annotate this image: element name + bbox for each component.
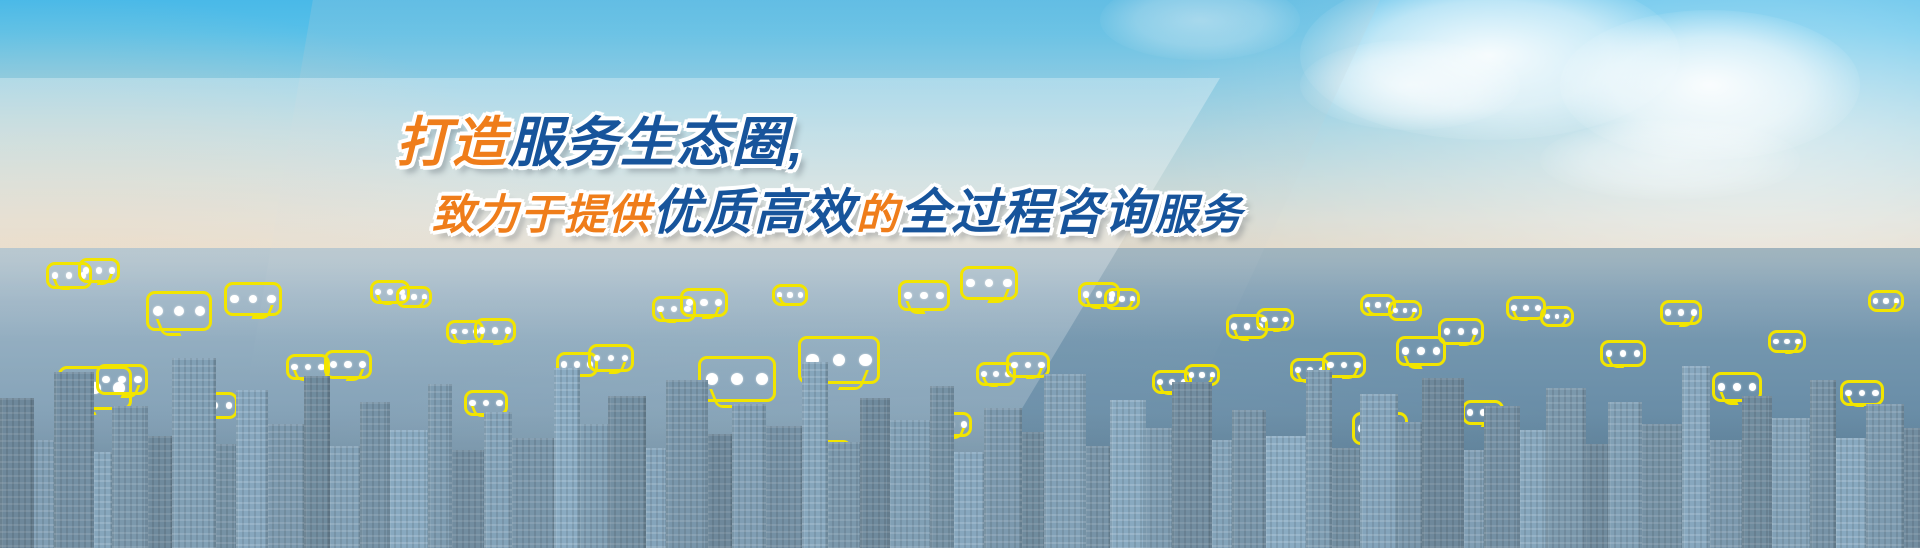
building <box>608 396 646 548</box>
building <box>644 448 668 548</box>
building <box>92 452 114 548</box>
building <box>1866 404 1904 548</box>
bubble-dot <box>981 371 987 377</box>
bubble-dot <box>859 354 872 367</box>
building <box>1210 440 1234 548</box>
bubble-dot <box>993 371 999 377</box>
building <box>1264 436 1308 548</box>
bubble-dot <box>1261 317 1266 322</box>
bubble-dot <box>344 361 351 368</box>
building <box>1306 370 1332 548</box>
building <box>112 406 148 548</box>
bubble-dot <box>1535 305 1541 311</box>
bubble-dot <box>249 295 258 304</box>
bubble-dot <box>622 355 629 362</box>
headline-segment-orange: 打造 <box>396 113 508 173</box>
building <box>1682 366 1710 548</box>
bubble-tail <box>1847 396 1864 407</box>
speech-bubble-icon <box>146 291 212 331</box>
bubble-tail <box>1366 307 1381 316</box>
bubble-dot <box>1417 347 1424 354</box>
building <box>172 358 216 548</box>
bubble-dot <box>134 376 142 384</box>
bubble-dot <box>1873 298 1878 303</box>
bubble-dot <box>798 292 803 297</box>
bubble-tail <box>97 274 114 285</box>
building <box>510 438 556 548</box>
headline-segment-blue: 服务生态圈, <box>508 113 805 173</box>
bubble-tail <box>1085 298 1102 309</box>
bubble-dot <box>1718 383 1725 390</box>
bubble-dot <box>920 292 928 300</box>
bubble-dot <box>479 327 485 333</box>
bubble-tail <box>1273 322 1288 332</box>
bubble-dot <box>1545 314 1550 319</box>
building <box>146 436 174 548</box>
bubble-tail <box>493 334 510 345</box>
speech-bubble-icon <box>1600 340 1646 367</box>
speech-bubble-icon <box>96 364 148 395</box>
bubble-dot <box>330 361 337 368</box>
bubble-tail <box>53 279 71 290</box>
bubble-dot <box>52 272 59 279</box>
bubble-dot <box>1678 309 1684 315</box>
bubble-tail <box>452 334 467 344</box>
bubble-dot <box>1634 350 1641 357</box>
building <box>1708 440 1744 548</box>
building <box>304 376 330 548</box>
bubble-tail <box>1512 311 1528 321</box>
bubble-tail <box>1402 312 1416 321</box>
speech-bubble-icon <box>1256 308 1294 331</box>
building <box>764 426 804 548</box>
bubble-dot <box>1773 339 1778 344</box>
speech-bubble-icon <box>1840 380 1884 406</box>
bubble-dot <box>1458 328 1465 335</box>
speech-bubble-icon <box>1868 290 1904 312</box>
bubble-dot <box>1472 328 1479 335</box>
speech-bubble-icon <box>78 258 120 283</box>
building <box>1834 438 1868 548</box>
bubble-tail <box>1120 301 1135 310</box>
bubble-dot <box>375 289 381 295</box>
headline-segment-blue: 优质高效 <box>652 186 856 240</box>
bubble-dot <box>731 373 743 385</box>
headline-segment-orange: 的 <box>856 191 900 238</box>
bubble-dot <box>1467 409 1473 415</box>
bubble-dot <box>1109 296 1114 301</box>
building <box>1110 400 1146 548</box>
speech-bubble-icon <box>1768 330 1806 353</box>
bubble-dot <box>1393 308 1398 313</box>
bubble-dot <box>756 373 768 385</box>
bubble-dot <box>1189 372 1194 377</box>
building <box>1330 448 1362 548</box>
bubble-dot <box>1872 390 1878 396</box>
building <box>666 380 708 548</box>
speech-bubble-icon <box>1388 300 1422 321</box>
building <box>1462 450 1486 548</box>
bubble-tail <box>412 299 427 308</box>
headline-segment-blue: 全过程咨询 <box>900 186 1155 240</box>
building <box>984 408 1022 548</box>
bubble-tail <box>376 295 392 305</box>
bubble-dot <box>715 299 722 306</box>
bubble-dot <box>83 267 89 273</box>
building <box>1640 424 1684 548</box>
building <box>1172 382 1212 548</box>
bubble-tail <box>659 312 676 323</box>
bubble-dot <box>1620 350 1627 357</box>
building <box>1518 430 1548 548</box>
bubble-dot <box>1244 323 1250 329</box>
building <box>1232 410 1266 548</box>
building <box>450 450 486 548</box>
building <box>388 430 430 548</box>
building <box>1608 402 1642 548</box>
bubble-dot <box>226 402 233 409</box>
bubble-dot <box>359 361 366 368</box>
building <box>554 368 580 548</box>
speech-bubble-icon <box>474 318 516 343</box>
bubble-dot <box>109 267 115 273</box>
building <box>860 398 890 548</box>
speech-bubble-icon <box>224 282 282 316</box>
building <box>1584 444 1610 548</box>
bubble-tail <box>1554 318 1568 327</box>
bubble-dot <box>594 355 601 362</box>
bubble-tail <box>1233 330 1250 341</box>
bubble-dot <box>561 361 567 367</box>
bubble-dot <box>1083 291 1089 297</box>
bubble-dot <box>118 376 126 384</box>
building <box>1484 406 1520 548</box>
building <box>952 452 986 548</box>
bubble-dot <box>1733 383 1740 390</box>
building <box>214 444 238 548</box>
speech-bubble-icon <box>698 356 776 402</box>
bubble-dot <box>1444 328 1451 335</box>
building <box>888 420 932 548</box>
building <box>236 390 268 548</box>
bubble-dot <box>574 361 580 367</box>
bubble-dot <box>96 267 102 273</box>
building <box>1742 396 1772 548</box>
bubble-tail <box>1607 357 1625 368</box>
headline-line-1: 打造服务生态圈, <box>396 116 1148 170</box>
bubble-tail <box>1459 335 1477 346</box>
building <box>54 372 94 548</box>
building <box>732 404 766 548</box>
bubble-tail <box>1342 368 1359 379</box>
building <box>1044 374 1086 548</box>
speech-bubble-icon <box>898 280 950 311</box>
building <box>1084 446 1112 548</box>
bubble-dot <box>387 289 393 295</box>
bubble-dot <box>936 292 944 300</box>
building <box>706 434 734 548</box>
bubble-dot <box>966 279 975 288</box>
building <box>802 362 828 548</box>
bubble-tail <box>778 297 793 306</box>
bubble-tail <box>1026 368 1043 379</box>
bubble-dot <box>608 355 615 362</box>
bubble-dot <box>1003 279 1012 288</box>
bubble-dot <box>1157 379 1163 385</box>
building <box>826 442 862 548</box>
bubble-dot <box>1749 383 1756 390</box>
speech-bubble-icon <box>588 344 634 372</box>
bubble-dot <box>153 306 163 316</box>
bubble-dot <box>1295 367 1301 373</box>
building <box>1020 432 1046 548</box>
bubble-dot <box>505 327 511 333</box>
bubble-dot <box>1523 305 1529 311</box>
bubble-dot <box>1096 291 1102 297</box>
bubble-dot <box>1327 362 1333 368</box>
bubble-dot <box>492 327 498 333</box>
headline-line-2: 致力于提供优质高效的全过程咨询服务 <box>432 189 1148 238</box>
building <box>1422 378 1464 548</box>
promo-banner: 打造服务生态圈, 致力于提供优质高效的全过程咨询服务 <box>0 0 1920 548</box>
building <box>1396 422 1424 548</box>
headline: 打造服务生态圈, 致力于提供优质高效的全过程咨询服务 <box>388 116 1148 238</box>
bubble-dot <box>102 376 110 384</box>
building <box>360 402 390 548</box>
speech-bubble-icon <box>680 288 728 317</box>
bubble-dot <box>1231 323 1237 329</box>
building <box>578 424 610 548</box>
bubble-dot <box>1433 347 1440 354</box>
building <box>1810 380 1836 548</box>
bubble-dot <box>904 292 912 300</box>
bubble-tail <box>982 377 998 387</box>
building <box>1546 388 1586 548</box>
bubble-dot <box>686 299 693 306</box>
bubble-dot <box>700 299 707 306</box>
speech-bubble-icon <box>324 350 372 379</box>
bubble-dot <box>1511 305 1517 311</box>
building <box>428 384 452 548</box>
speech-bubble-icon <box>1104 288 1140 310</box>
bubble-dot <box>267 295 276 304</box>
speech-bubble-icon <box>1438 318 1484 345</box>
building <box>930 386 954 548</box>
bubble-tail <box>1884 303 1899 312</box>
bubble-dot <box>401 294 406 299</box>
building <box>1144 428 1174 548</box>
building <box>484 412 512 548</box>
speech-bubble-icon <box>772 284 808 306</box>
bubble-dot <box>1402 347 1409 354</box>
building <box>1360 394 1398 548</box>
bubble-tail <box>1785 344 1800 354</box>
bubble-dot <box>230 295 239 304</box>
headline-segment-blue: 服务 <box>1155 191 1243 238</box>
bubble-dot <box>985 279 994 288</box>
headline-segment-orange: 致力于提供 <box>432 191 652 238</box>
building <box>0 398 34 548</box>
bubble-dot <box>174 306 184 316</box>
bubble-tail <box>1679 316 1696 327</box>
bubble-dot <box>496 400 502 406</box>
speech-bubble-icon <box>1660 300 1702 325</box>
bubble-dot <box>1691 309 1697 315</box>
bubble-dot <box>961 421 967 427</box>
speech-bubble-icon <box>396 286 432 308</box>
bubble-dot <box>1011 362 1017 368</box>
speech-bubble-icon <box>960 266 1018 300</box>
bubble-dot <box>1665 309 1671 315</box>
building <box>328 446 362 548</box>
building <box>1770 418 1812 548</box>
bubble-dot <box>195 306 205 316</box>
bubble-dot <box>833 354 846 367</box>
speech-bubble-icon <box>1540 306 1574 327</box>
building <box>266 424 306 548</box>
bubble-dot <box>1606 350 1613 357</box>
bubble-dot <box>66 272 73 279</box>
